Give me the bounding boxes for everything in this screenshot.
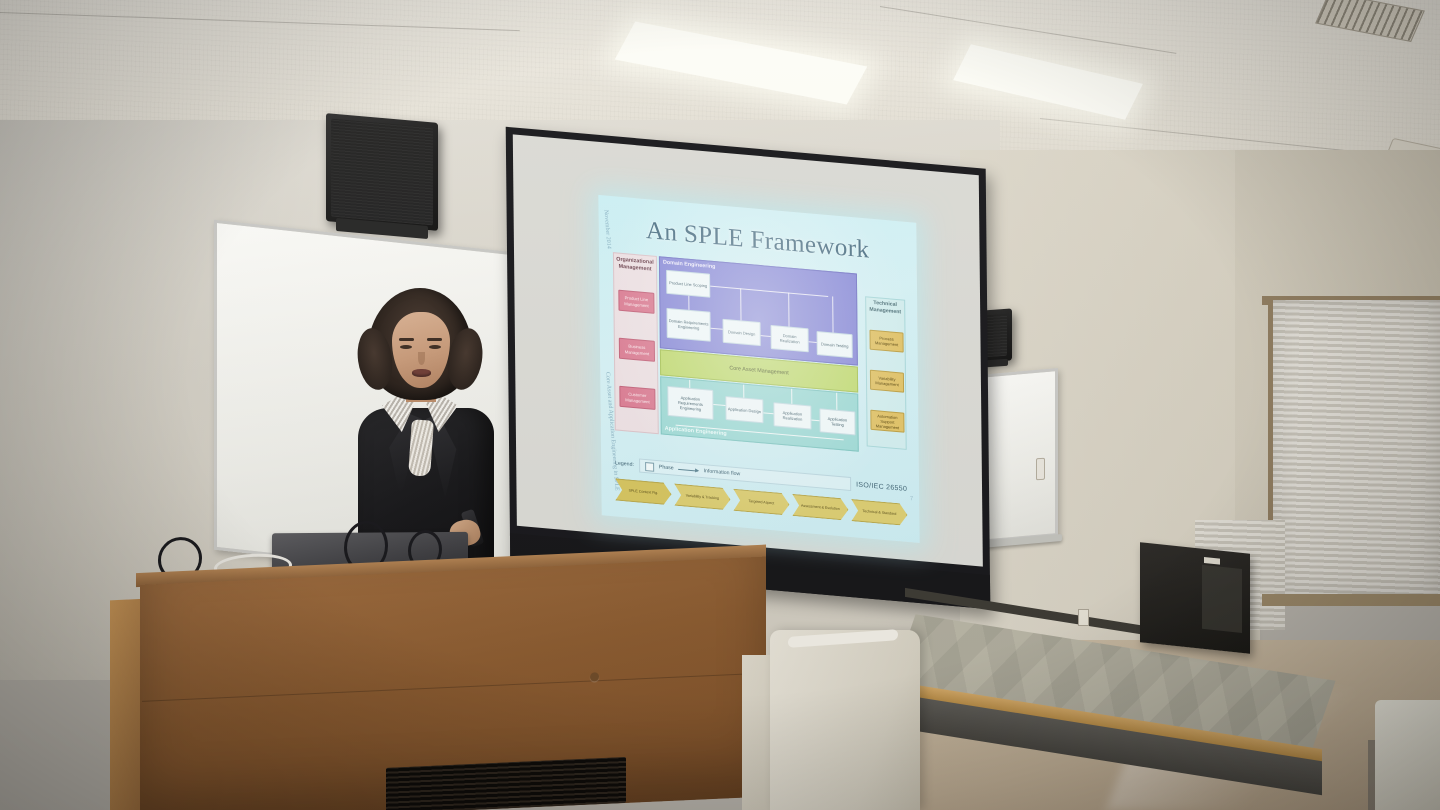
black-equipment-cabinet (1140, 542, 1250, 654)
phase-application-realization: Application Realization (773, 402, 811, 429)
connector (809, 341, 817, 343)
legend-phase-label: Phase (659, 464, 674, 471)
venetian-blinds[interactable] (1268, 300, 1440, 600)
phase-application-requirements-engineering: Application Requirements Engineering (667, 386, 713, 420)
phase-domain-design: Domain Design (723, 319, 761, 346)
connector (761, 335, 771, 337)
org-box-product-line-management: Product Line Management (618, 290, 654, 314)
connector (743, 385, 744, 398)
wooden-podium (86, 545, 766, 810)
technical-management-column: Technical Management Process Management … (865, 296, 907, 450)
phase-domain-requirements-engineering: Domain Requirements Engineering (666, 308, 710, 342)
phase-domain-testing: Domain Testing (817, 331, 853, 358)
organizational-management-header: Organizational Management (614, 256, 656, 274)
white-desk-partition (770, 630, 920, 810)
lecture-hall-scene: November 2014 Core Asset and Application… (0, 0, 1440, 810)
legend-flow-arrow-icon (679, 468, 699, 471)
connector (713, 404, 725, 406)
connector (763, 412, 773, 414)
connector (836, 393, 837, 410)
projection-screen: November 2014 Core Asset and Application… (506, 127, 991, 609)
chevron-step-4: Assessment & Evolution (792, 494, 848, 521)
chevron-step-5: Technical & Standard (851, 499, 907, 526)
tech-box-variability-management: Variability Management (870, 370, 904, 393)
phase-application-testing: Application Testing (819, 408, 855, 435)
projected-slide: November 2014 Core Asset and Application… (598, 195, 919, 543)
connector (740, 288, 741, 320)
phase-application-design: Application Design (725, 396, 763, 423)
organizational-management-column: Organizational Management Product Line M… (613, 252, 659, 434)
legend-label: Legend: (615, 460, 634, 468)
eyebrow-right (427, 338, 442, 341)
slide-page-number: 7 (910, 496, 913, 502)
connector (711, 328, 723, 330)
chevron-step-3: Targeted Aspect (733, 489, 789, 516)
technical-management-header: Technical Management (866, 299, 904, 316)
chevron-step-1: SPLE Context Fig. (615, 478, 671, 505)
podium-left-edge (110, 599, 144, 810)
eye-right (429, 345, 441, 349)
phase-domain-realization: Domain Realization (771, 325, 809, 352)
connector (710, 286, 828, 297)
speaker-grille (331, 119, 433, 226)
tech-box-automation-support-management: Automation Support Management (870, 410, 904, 433)
phase-product-line-scoping: Product Line Scoping (666, 270, 710, 298)
domain-engineering-band: Domain Engineering Product Line Scoping … (659, 256, 858, 365)
connector (689, 380, 690, 388)
cabinet-panel (1202, 565, 1242, 633)
iso-standard-label: ISO/IEC 26550 (856, 481, 907, 492)
presenter-shirt-placket (408, 419, 434, 476)
wall-speaker-left (326, 113, 438, 231)
window-sill (1262, 594, 1440, 606)
connector (788, 293, 789, 327)
nose (418, 352, 425, 365)
connector (832, 296, 833, 332)
legend-phase-swatch (645, 461, 654, 471)
cabinet-label-tag (1204, 557, 1220, 565)
light-switch[interactable] (1036, 458, 1045, 481)
sple-framework-diagram: Organizational Management Product Line M… (613, 252, 907, 474)
connector (688, 296, 689, 310)
eye-left (400, 345, 412, 349)
chevron-step-2: Variability & Tracking (674, 484, 730, 511)
connector (791, 389, 792, 404)
org-box-business-management: Business Management (619, 338, 655, 362)
mouth (412, 369, 431, 377)
wall-outlet[interactable] (1078, 609, 1089, 626)
org-box-customer-management: Customer Management (619, 386, 655, 410)
white-chair (1375, 700, 1440, 810)
domain-engineering-label: Domain Engineering (663, 260, 715, 271)
tech-box-process-management: Process Management (869, 330, 903, 353)
connector (811, 420, 819, 422)
eyebrow-left (399, 338, 414, 341)
legend-flow-label: Information flow (704, 468, 741, 477)
